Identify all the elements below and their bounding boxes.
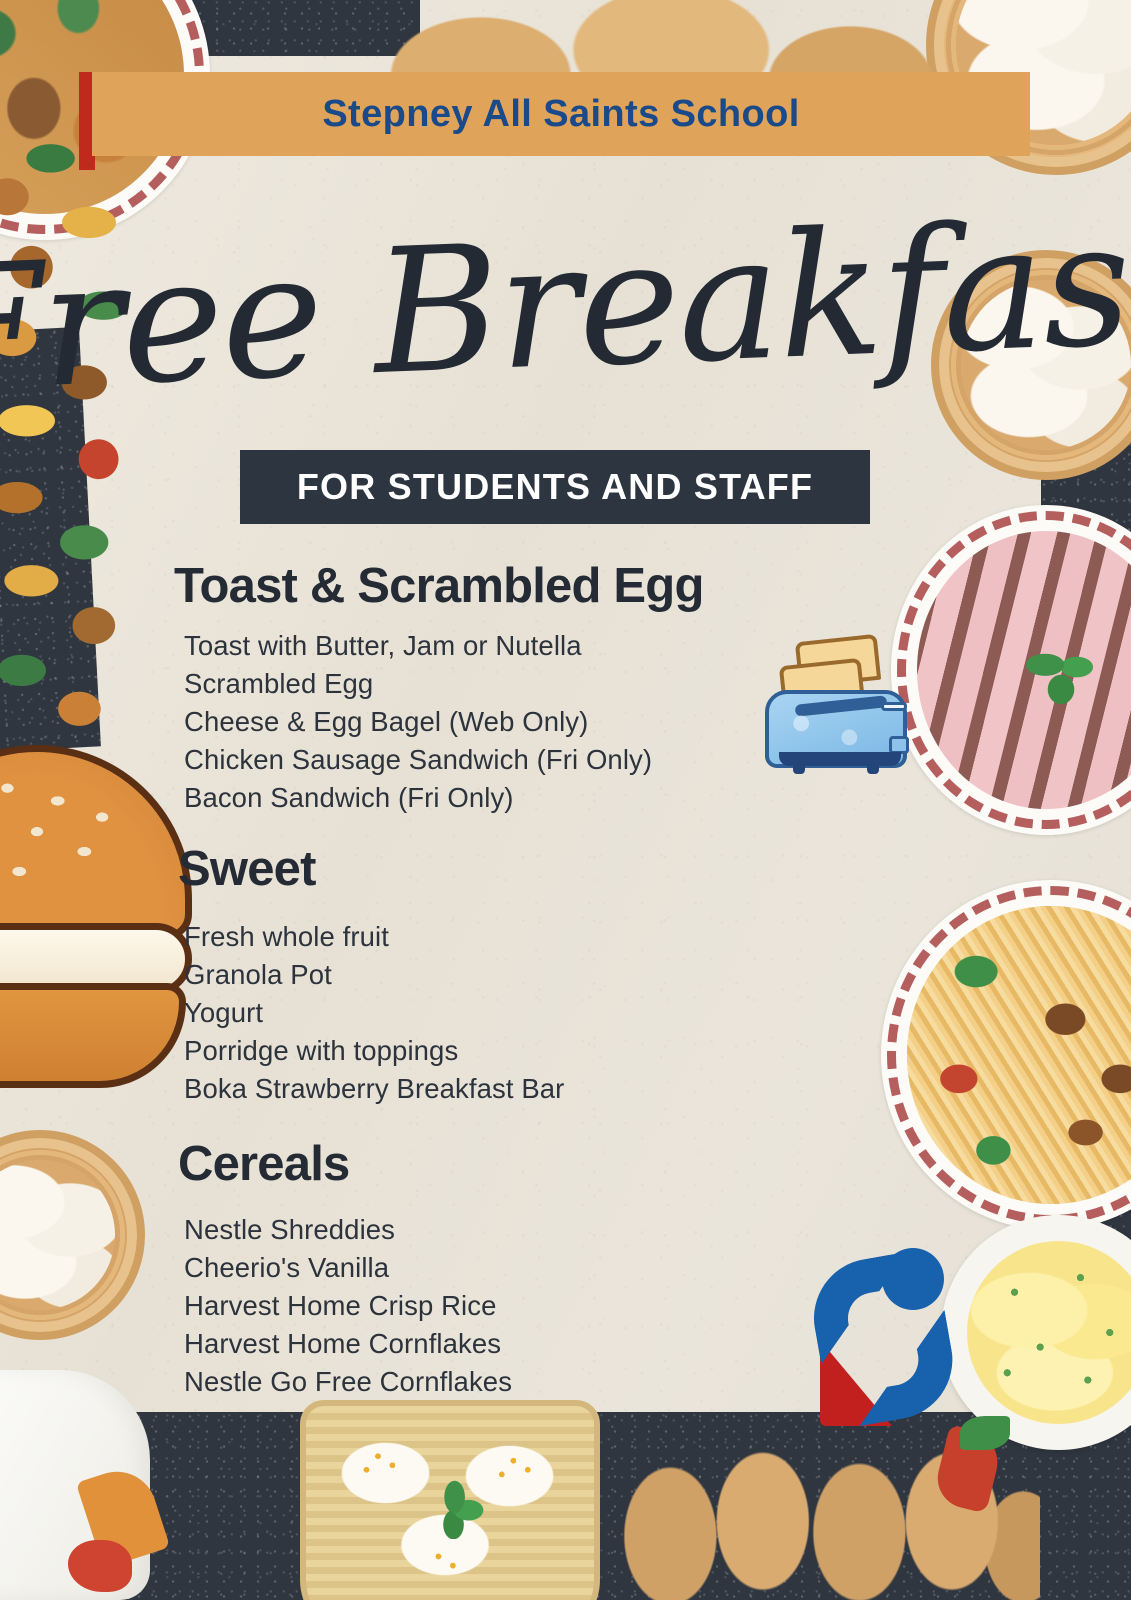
section-heading: Toast & Scrambled Egg (174, 560, 1131, 613)
breakfast-poster: Stepney All Saints School Free Breakfast… (0, 0, 1131, 1600)
menu-content: Toast & Scrambled Egg Toast with Butter,… (0, 560, 1131, 1401)
school-name-banner: Stepney All Saints School (92, 72, 1030, 156)
menu-item: Bacon Sandwich (Fri Only) (184, 779, 1131, 817)
toaster-body (765, 690, 907, 768)
menu-item: Harvest Home Cornflakes (184, 1325, 1131, 1363)
school-logo-icon (806, 1240, 956, 1430)
menu-item: Yogurt (184, 994, 1131, 1032)
toaster-icon (757, 628, 917, 778)
menu-item: Nestle Shreddies (184, 1211, 1131, 1249)
section-heading: Sweet (178, 843, 1131, 896)
logo-head-circle (882, 1248, 944, 1310)
menu-item: Porridge with toppings (184, 1032, 1131, 1070)
menu-item: Cheese & Egg Bagel (Web Only) (184, 703, 1131, 741)
menu-item-list: Fresh whole fruit Granola Pot Yogurt Por… (184, 918, 1131, 1108)
menu-item-list: Nestle Shreddies Cheerio's Vanilla Harve… (184, 1211, 1131, 1401)
menu-item: Cheerio's Vanilla (184, 1249, 1131, 1287)
menu-section-cereals: Cereals Nestle Shreddies Cheerio's Vanil… (0, 1138, 1131, 1401)
menu-item: Harvest Home Crisp Rice (184, 1287, 1131, 1325)
menu-item: Scrambled Egg (184, 665, 1131, 703)
menu-item-list: Toast with Butter, Jam or Nutella Scramb… (184, 627, 1131, 817)
menu-item: Chicken Sausage Sandwich (Fri Only) (184, 741, 1131, 779)
menu-item: Fresh whole fruit (184, 918, 1131, 956)
subtitle-text: FOR STUDENTS AND STAFF (297, 466, 813, 508)
subtitle-banner: FOR STUDENTS AND STAFF (240, 450, 870, 524)
toaster-lever-icon (881, 702, 907, 711)
section-heading: Cereals (178, 1138, 1131, 1191)
menu-section-sweet: Sweet Fresh whole fruit Granola Pot Yogu… (0, 843, 1131, 1108)
toaster-leg (867, 762, 879, 774)
menu-item: Nestle Go Free Cornflakes (184, 1363, 1131, 1401)
toaster-leg (793, 762, 805, 774)
menu-item: Granola Pot (184, 956, 1131, 994)
menu-item: Boka Strawberry Breakfast Bar (184, 1070, 1131, 1108)
page-title: Stepney All Saints School (322, 93, 799, 136)
logo-s-lower-curve (842, 1310, 962, 1427)
headline-script-text: Free Breakfast (105, 159, 1014, 453)
menu-item: Toast with Butter, Jam or Nutella (184, 627, 1131, 665)
menu-section-toast: Toast & Scrambled Egg Toast with Butter,… (0, 560, 1131, 817)
